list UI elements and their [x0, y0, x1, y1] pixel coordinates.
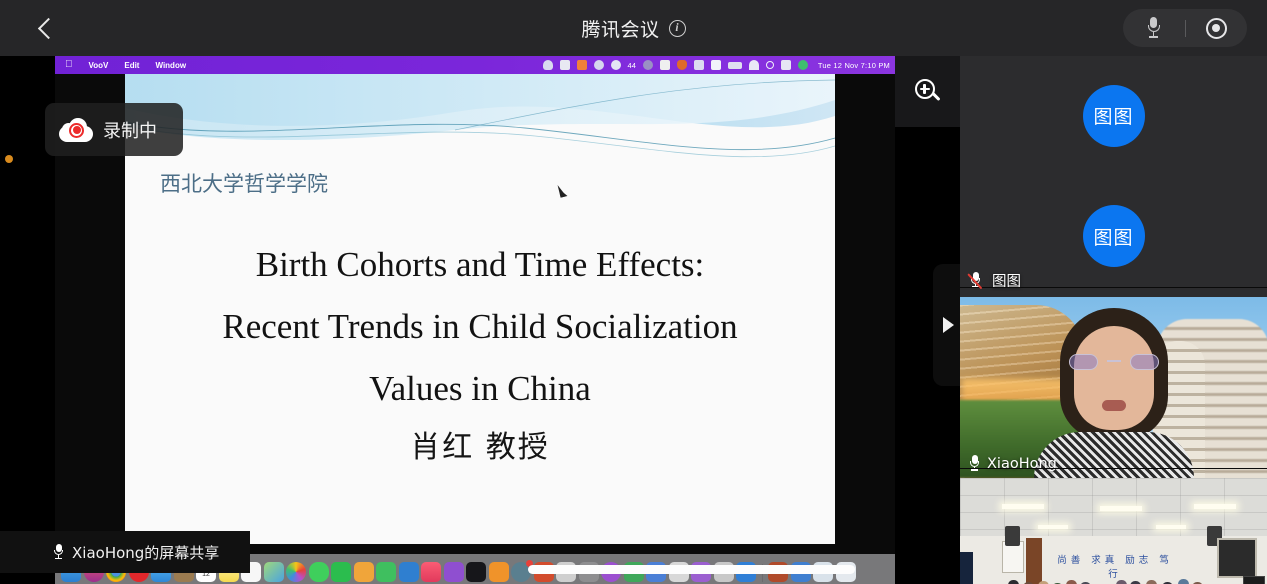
- participant-video-person: [1029, 308, 1199, 478]
- wifi-icon[interactable]: [749, 60, 759, 70]
- mac-menu-bar:  VooV Edit Window 44: [55, 56, 895, 74]
- microphone-button[interactable]: [1123, 9, 1185, 47]
- top-bar: 腾讯会议 i: [0, 0, 1267, 56]
- ceiling-light: [1194, 504, 1236, 509]
- input-source-icon[interactable]: [711, 60, 721, 70]
- participant-tile[interactable]: 图图: [960, 56, 1267, 175]
- dock-icon-keynote[interactable]: [399, 562, 419, 582]
- collapse-panel-button[interactable]: [933, 264, 960, 386]
- page-title: 腾讯会议: [581, 15, 659, 42]
- shared-screen-stage[interactable]:  VooV Edit Window 44: [0, 56, 960, 584]
- horizontal-scrollbar[interactable]: [528, 565, 855, 574]
- mouse-cursor-icon: [558, 183, 568, 197]
- participant-name-group: XiaoHong: [970, 455, 1057, 472]
- avatar: 图图: [1083, 205, 1145, 267]
- zoom-in-magnifier-icon: [915, 79, 941, 105]
- presentation-slide: 西北大学哲学学院 Birth Cohorts and Time Effects:…: [125, 74, 835, 544]
- student: [1146, 580, 1157, 584]
- participant-tile[interactable]: XiaoHong: [960, 297, 1267, 478]
- slide-title: Birth Cohorts and Time Effects: Recent T…: [153, 234, 807, 420]
- cloud-sync-icon[interactable]: [543, 60, 553, 70]
- battery-icon[interactable]: [728, 62, 742, 69]
- participant-tile[interactable]: 图图 图图: [960, 175, 1267, 297]
- dock-icon-photos[interactable]: [286, 562, 306, 582]
- student: [1178, 579, 1189, 584]
- ceiling-light: [1038, 525, 1068, 529]
- microphone-icon: [54, 544, 63, 561]
- dock-icon-pages[interactable]: [354, 562, 374, 582]
- notification-count: 44: [628, 61, 636, 70]
- student: [1116, 580, 1127, 584]
- menu-item-voov[interactable]: VooV: [89, 61, 109, 70]
- slide-title-line-2: Recent Trends in Child Socialization: [153, 296, 807, 358]
- participant-rail: 图图 图图 图图: [960, 56, 1267, 584]
- microphone-icon: [1148, 17, 1160, 39]
- avatar: 图图: [1083, 85, 1145, 147]
- top-actions-group: [1123, 9, 1247, 47]
- participant-name: XiaoHong: [987, 456, 1057, 472]
- dock-icon-books[interactable]: [489, 562, 509, 582]
- voov-meeting-window: 腾讯会议 i  VooV Edit W: [0, 0, 1267, 584]
- participant-tile[interactable]: 尚善 求真 励志 笃行: [960, 478, 1267, 584]
- apple-logo-icon[interactable]: : [65, 60, 73, 70]
- cloud-record-icon: [59, 118, 93, 142]
- dock-icon-appletv[interactable]: [466, 562, 486, 582]
- at-icon[interactable]: [594, 60, 604, 70]
- classroom-display: [960, 552, 973, 584]
- classroom-window: [1217, 538, 1257, 578]
- dock-icon-podcasts[interactable]: [444, 562, 464, 582]
- info-icon[interactable]: i: [669, 20, 686, 37]
- collapse-arrow-right-icon: [943, 317, 954, 333]
- dock-icon-numbers[interactable]: [376, 562, 396, 582]
- screen-share-owner: XiaoHong的屏幕共享: [72, 542, 219, 563]
- wall-speaker: [1005, 526, 1020, 546]
- binoculars-icon[interactable]: [660, 60, 670, 70]
- student: [1008, 580, 1019, 584]
- microphone-icon: [970, 455, 979, 472]
- slide-author: 肖红 教授: [153, 422, 807, 466]
- slide-organization: 西北大学哲学学院: [160, 168, 328, 198]
- classroom-motto: 尚善 求真 励志 笃行: [1055, 552, 1175, 580]
- tally-icon[interactable]: [577, 60, 587, 70]
- camera-record-icon: [1206, 18, 1227, 39]
- classroom-door: [1026, 538, 1042, 584]
- ceiling-light: [1002, 504, 1044, 509]
- ceiling-light: [1156, 525, 1186, 529]
- ceiling-light: [1100, 506, 1142, 511]
- control-center-icon[interactable]: [781, 60, 791, 70]
- dock-icon-facetime[interactable]: [331, 562, 351, 582]
- globe-icon[interactable]: [643, 60, 653, 70]
- dock-icon-messages[interactable]: [309, 562, 329, 582]
- camera-button[interactable]: [1186, 9, 1248, 47]
- zoom-in-button[interactable]: [895, 56, 960, 127]
- meeting-title-group: 腾讯会议 i: [0, 0, 1267, 56]
- slide-title-line-1: Birth Cohorts and Time Effects:: [153, 234, 807, 296]
- search-icon[interactable]: [766, 61, 774, 69]
- dock-icon-music[interactable]: [421, 562, 441, 582]
- shelf-icon[interactable]: [560, 60, 570, 70]
- menu-item-edit[interactable]: Edit: [124, 61, 139, 70]
- shield-icon[interactable]: [677, 60, 687, 70]
- tile-divider: [960, 468, 1267, 469]
- wechat-icon[interactable]: [611, 60, 621, 70]
- slide-title-line-3: Values in China: [153, 358, 807, 420]
- screen-share-label: XiaoHong的屏幕共享: [0, 531, 250, 573]
- recording-label: 录制中: [103, 117, 157, 143]
- dock-icon-maps[interactable]: [264, 562, 284, 582]
- tile-divider: [960, 287, 1267, 288]
- siri-icon[interactable]: [798, 60, 808, 70]
- menubar-clock[interactable]: Tue 12 Nov 7:10 PM: [818, 61, 890, 70]
- status-dot: [5, 155, 13, 163]
- display-icon[interactable]: [694, 60, 704, 70]
- student: [1066, 580, 1077, 584]
- equipment-rack: [1243, 576, 1265, 584]
- menu-item-window[interactable]: Window: [155, 61, 186, 70]
- recording-badge[interactable]: 录制中: [45, 103, 183, 156]
